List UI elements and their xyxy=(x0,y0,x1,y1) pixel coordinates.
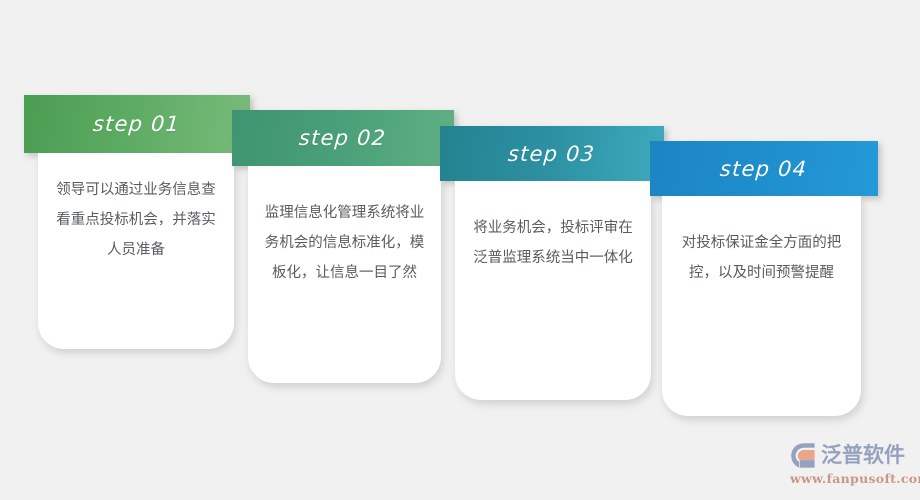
step-description-1: 领导可以通过业务信息查看重点投标机会，并落实人员准备 xyxy=(52,175,220,265)
step-diagram: step 01 领导可以通过业务信息查看重点投标机会，并落实人员准备 step … xyxy=(0,0,920,500)
step-body-3: 将业务机会，投标评审在泛普监理系统当中一体化 xyxy=(455,181,651,400)
step-body-4: 对投标保证金全方面的把控，以及时间预警提醒 xyxy=(662,196,861,416)
step-header-1: step 01 xyxy=(24,95,250,153)
step-label-4: step 04 xyxy=(720,157,809,181)
watermark-company: 泛普软件 xyxy=(821,443,905,467)
step-header-2: step 02 xyxy=(232,110,454,166)
step-label-2: step 02 xyxy=(299,126,388,150)
watermark-url: www.fanpusoft.com xyxy=(790,471,912,486)
step-label-1: step 01 xyxy=(93,112,182,136)
fanpusoft-logo-icon xyxy=(790,442,818,469)
step-body-2: 监理信息化管理系统将业务机会的信息标准化，模板化，让信息一目了然 xyxy=(248,166,441,383)
step-body-1: 领导可以通过业务信息查看重点投标机会，并落实人员准备 xyxy=(38,153,234,349)
watermark-brand-row: 泛普软件 xyxy=(790,440,912,470)
watermark: 泛普软件 www.fanpusoft.com xyxy=(790,440,912,490)
step-label-3: step 03 xyxy=(508,142,597,166)
step-header-3: step 03 xyxy=(440,126,664,181)
step-description-2: 监理信息化管理系统将业务机会的信息标准化，模板化，让信息一目了然 xyxy=(262,198,427,288)
step-header-4: step 04 xyxy=(650,141,878,196)
step-description-4: 对投标保证金全方面的把控，以及时间预警提醒 xyxy=(676,228,847,288)
step-description-3: 将业务机会，投标评审在泛普监理系统当中一体化 xyxy=(469,213,637,273)
